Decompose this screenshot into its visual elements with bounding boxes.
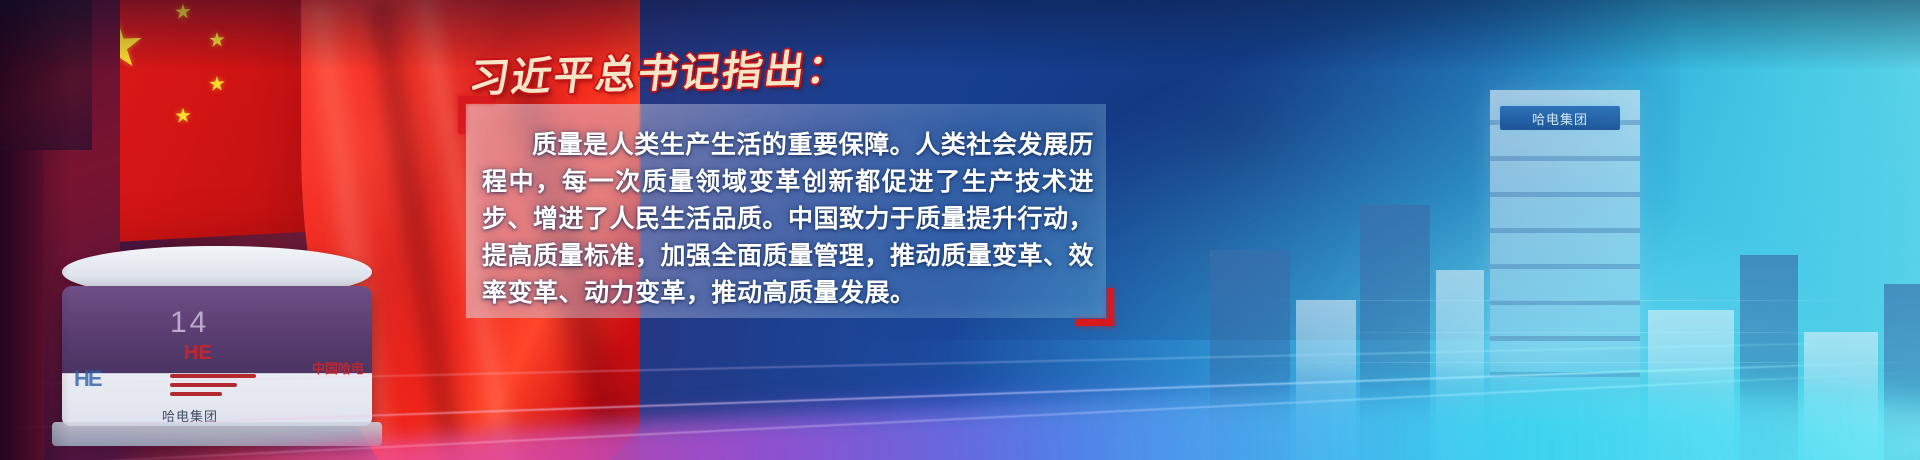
unit-logo-right: 中国哈电	[312, 358, 364, 377]
building-sign-text: 哈电集团	[1532, 109, 1588, 128]
main-tower	[1490, 90, 1640, 420]
unit-base	[52, 422, 382, 446]
building-signboard: 哈电集团	[1500, 106, 1620, 130]
unit-number: 14	[170, 306, 209, 340]
flag-star-3: ★	[208, 74, 226, 95]
generator-unit: 14 HE HE 中国哈电 哈电集团	[52, 246, 382, 446]
page-title: 习近平总书记指出：	[467, 49, 852, 99]
unit-logo-mid: HE	[184, 342, 212, 365]
unit-stripes	[170, 374, 256, 401]
unit-logo-left: HE	[74, 366, 114, 400]
flag-star-4: ★	[174, 106, 192, 127]
quote-text: 质量是人类生产生活的重要保障。人类社会发展历程中，每一次质量领域变革创新都促进了…	[482, 126, 1094, 311]
vignette-top	[0, 0, 1920, 70]
propaganda-banner: 哈电集团 ★ ★ ★ ★ ★ 14 HE HE 中国哈电	[0, 0, 1920, 460]
unit-body	[62, 286, 372, 426]
